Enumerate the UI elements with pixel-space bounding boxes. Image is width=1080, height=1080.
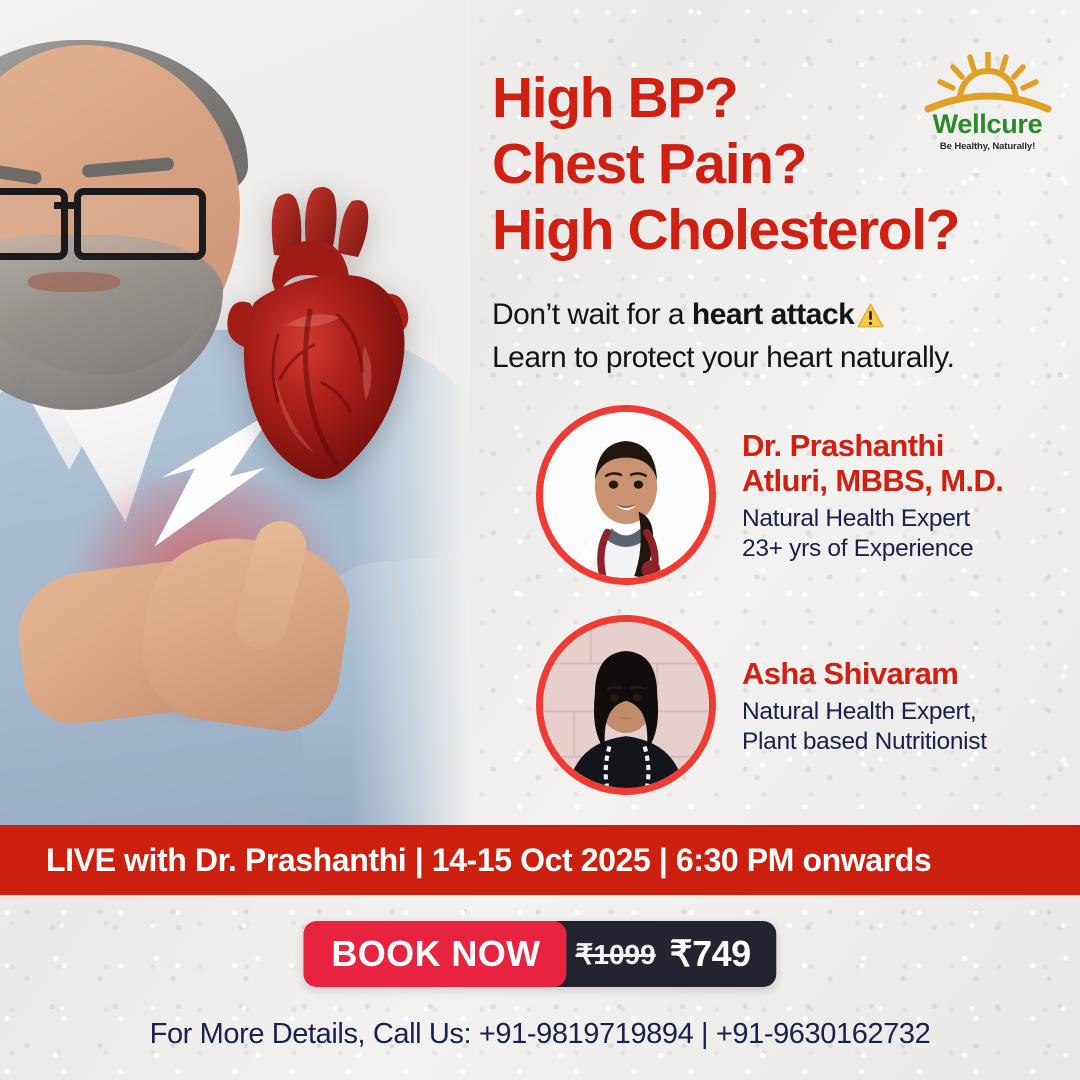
contact-footer[interactable]: For More Details, Call Us: +91-981971989… (0, 1018, 1080, 1051)
headline-line-2: Chest Pain? (492, 132, 1037, 198)
live-event-text: LIVE with Dr. Prashanthi | 14-15 Oct 202… (0, 842, 931, 879)
mouth-shape (28, 272, 120, 292)
expert-role: Natural Health Expert, Plant based Nutri… (742, 697, 987, 757)
price-discounted: ₹749 (670, 933, 751, 975)
subheadline-block: Don’t wait for a heart attack Learn to p… (492, 294, 1052, 379)
expert-text: Dr. Prashanthi Atluri, MBBS, M.D. Natura… (742, 426, 1003, 564)
expert-card: Asha Shivaram Natural Health Expert, Pla… (536, 615, 1056, 795)
book-now-cta[interactable]: BOOK NOW ₹1099 ₹749 (303, 921, 776, 987)
headline-line-1: High BP? (492, 66, 1037, 132)
warning-triangle-icon (857, 303, 884, 328)
expert-name: Dr. Prashanthi Atluri, MBBS, M.D. (742, 428, 1003, 498)
book-now-button[interactable]: BOOK NOW (303, 921, 566, 987)
expert-text: Asha Shivaram Natural Health Expert, Pla… (742, 654, 987, 757)
expert-name: Asha Shivaram (742, 656, 987, 691)
experts-list: Dr. Prashanthi Atluri, MBBS, M.D. Natura… (536, 405, 1056, 825)
live-event-banner: LIVE with Dr. Prashanthi | 14-15 Oct 202… (0, 825, 1080, 895)
poster-canvas: Wellcure Be Healthy, Naturally! High BP?… (0, 0, 1080, 1080)
headline-line-3: High Cholesterol? (492, 198, 1037, 264)
avatar (536, 405, 716, 585)
headline-block: High BP? Chest Pain? High Cholesterol? (492, 66, 1037, 263)
subheadline-prefix: Don’t wait for a (492, 298, 692, 331)
price-badge: ₹1099 ₹749 (554, 921, 777, 987)
asha-shivaram-photo (543, 622, 709, 788)
expert-role: Natural Health Expert 23+ yrs of Experie… (742, 504, 1003, 564)
expert-card: Dr. Prashanthi Atluri, MBBS, M.D. Natura… (536, 405, 1056, 585)
subheadline-line-1: Don’t wait for a heart attack (492, 294, 1052, 337)
price-original: ₹1099 (576, 938, 656, 971)
doctor-prashanthi-photo (543, 412, 709, 578)
avatar (536, 615, 716, 795)
subheadline-line-2: Learn to protect your heart naturally. (492, 337, 1052, 380)
anatomical-heart-icon (214, 185, 429, 485)
subheadline-emphasis: heart attack (692, 298, 854, 331)
eyeglasses-icon (0, 188, 234, 250)
